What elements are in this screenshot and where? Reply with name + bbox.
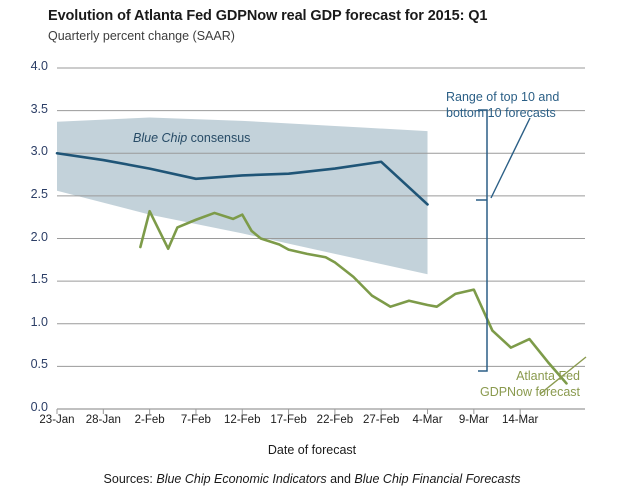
y-tick-label: 3.0 [2, 144, 48, 158]
y-tick-label: 1.0 [2, 315, 48, 329]
x-tick-label: 9-Mar [459, 414, 489, 426]
gdpnow-label-line1: Atlanta Fed [437, 368, 580, 384]
y-tick-label: 1.5 [2, 272, 48, 286]
sources-conjunction: and [330, 472, 351, 486]
x-tick-label: 27-Feb [363, 414, 399, 426]
blue-chip-rest-text: consensus [187, 131, 250, 145]
y-tick-label: 0.0 [2, 400, 48, 414]
range-bracket [476, 110, 487, 371]
x-tick-label: 2-Feb [135, 414, 165, 426]
x-tick-label: 23-Jan [39, 414, 74, 426]
sources-prefix: Sources: [104, 472, 153, 486]
x-tick-label: 22-Feb [317, 414, 353, 426]
y-tick-label: 4.0 [2, 59, 48, 73]
gdpnow-annotation-label: Atlanta Fed GDPNow forecast [437, 368, 580, 400]
source-2: Blue Chip Financial Forecasts [354, 472, 520, 486]
x-tick-label: 7-Feb [181, 414, 211, 426]
gdpnow-chart: Evolution of Atlanta Fed GDPNow real GDP… [0, 0, 624, 496]
x-tick-label: 17-Feb [270, 414, 306, 426]
y-tick-label: 2.0 [2, 230, 48, 244]
y-tick-label: 2.5 [2, 187, 48, 201]
x-tick-label: 12-Feb [224, 414, 260, 426]
x-tick-label: 28-Jan [86, 414, 121, 426]
y-tick-label: 0.5 [2, 357, 48, 371]
blue-chip-italic-text: Blue Chip [133, 131, 187, 145]
blue-chip-consensus-label: Blue Chip consensus [133, 131, 250, 145]
gdpnow-label-line2: GDPNow forecast [437, 384, 580, 400]
y-tick-label: 3.5 [2, 102, 48, 116]
range-label-line1: Range of top 10 and [446, 89, 559, 105]
x-tick-label: 4-Mar [413, 414, 443, 426]
x-tick-label: 14-Mar [502, 414, 538, 426]
sources-note: Sources: Blue Chip Economic Indicators a… [0, 472, 624, 486]
x-axis-title-text: Date of forecast [268, 443, 356, 457]
range-annotation-label: Range of top 10 and bottom 10 forecasts [446, 89, 559, 121]
range-label-line2: bottom 10 forecasts [446, 105, 559, 121]
range-leader-line [491, 118, 530, 198]
x-axis-title: Date of forecast [0, 443, 624, 457]
source-1: Blue Chip Economic Indicators [156, 472, 326, 486]
